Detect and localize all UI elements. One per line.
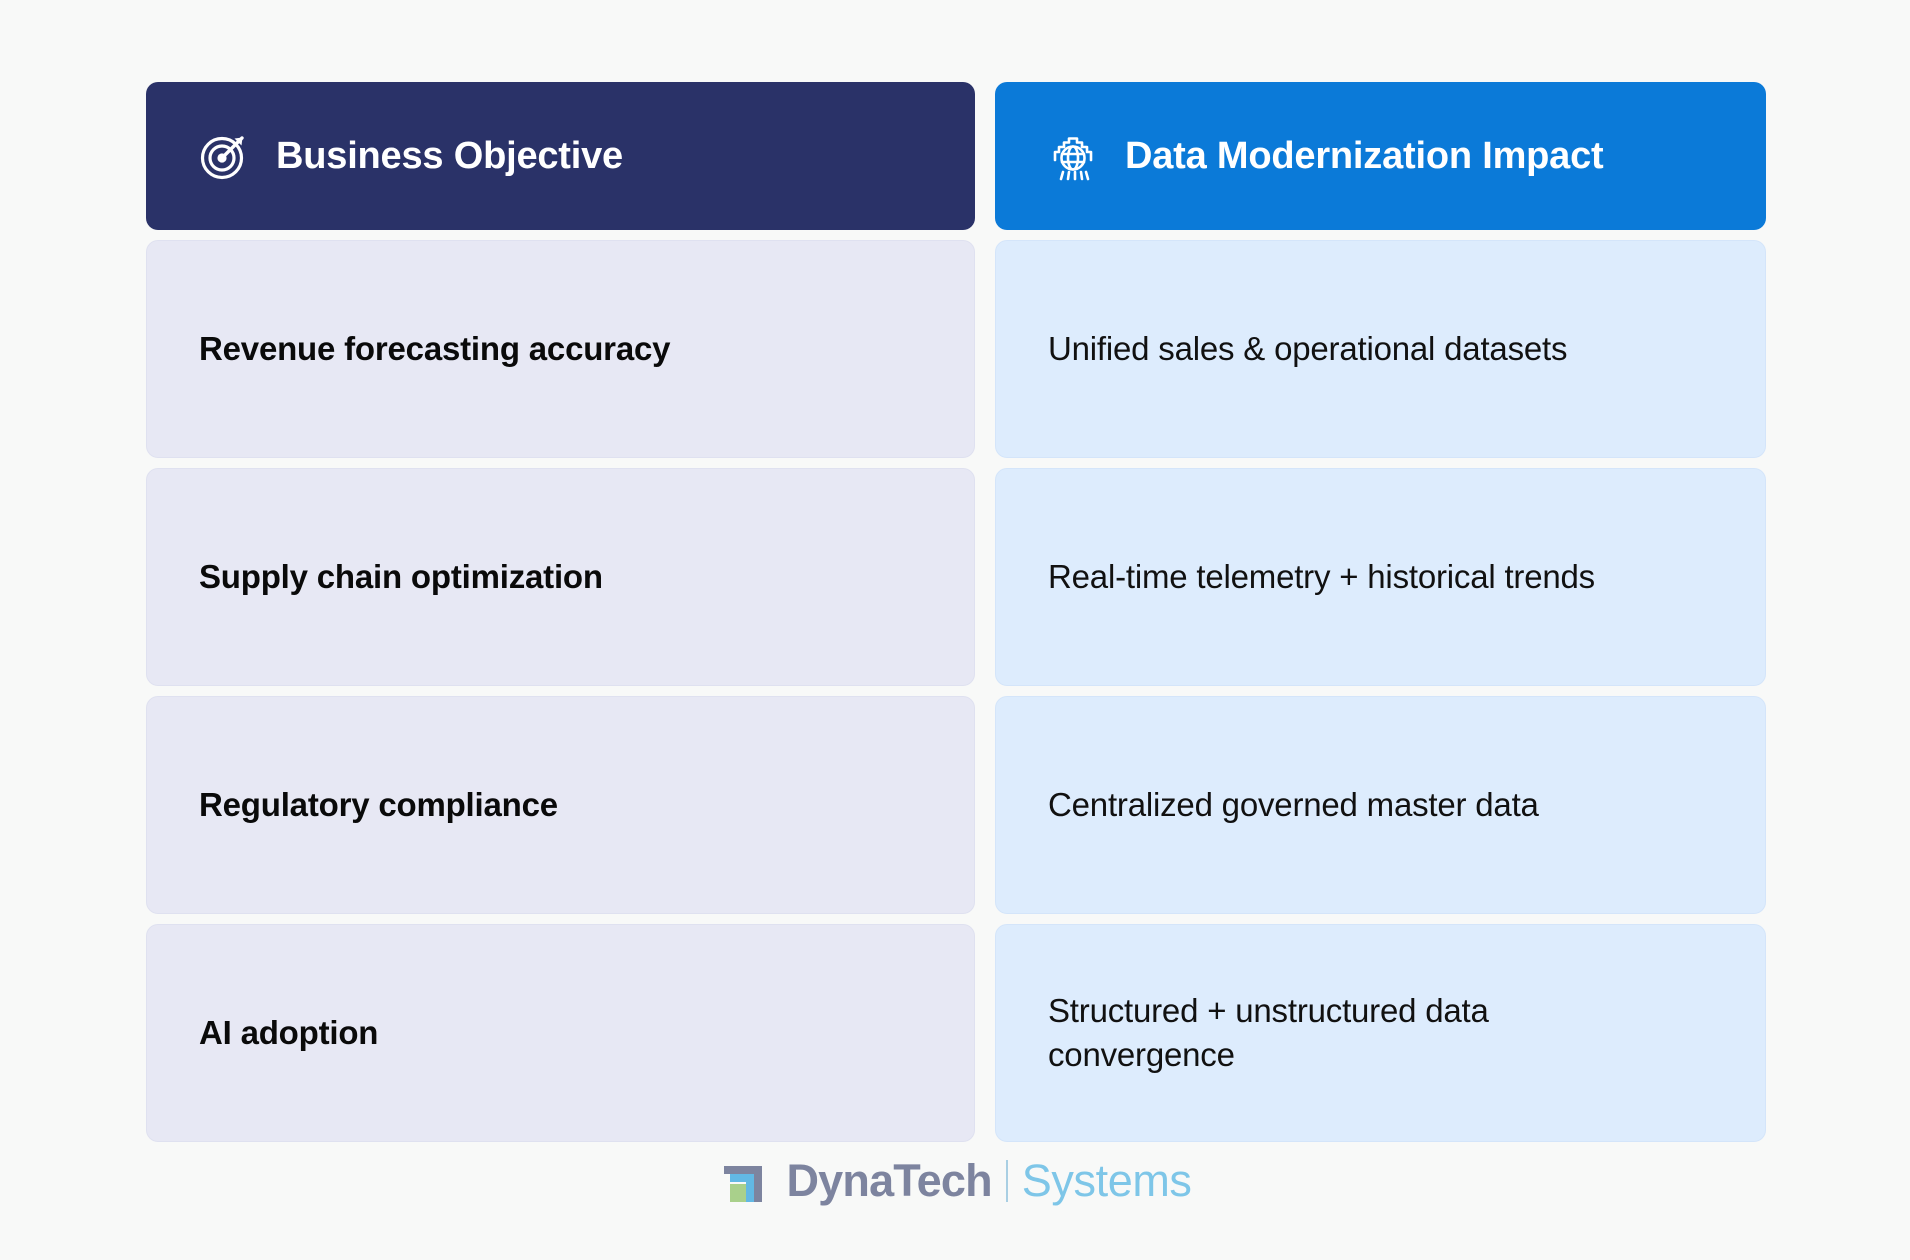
brand-wordmark: DynaTech Systems [786, 1155, 1191, 1207]
table-row: Supply chain optimization [146, 468, 975, 686]
impact-text: Structured + unstructured data convergen… [1048, 989, 1648, 1077]
table-header-label: Business Objective [276, 135, 623, 178]
brand-divider [1006, 1160, 1008, 1202]
table-row: Centralized governed master data [995, 696, 1766, 914]
brand-secondary-text: Systems [1022, 1155, 1192, 1207]
target-arrow-icon [198, 130, 250, 182]
table-row: Revenue forecasting accuracy [146, 240, 975, 458]
impact-text: Real-time telemetry + historical trends [1048, 555, 1595, 599]
table-row: Unified sales & operational datasets [995, 240, 1766, 458]
impact-text: Unified sales & operational datasets [1048, 327, 1567, 371]
table-row: Real-time telemetry + historical trends [995, 468, 1766, 686]
table-header-business-objective: Business Objective [146, 82, 975, 230]
table-header-label: Data Modernization Impact [1125, 135, 1604, 178]
comparison-table: Business Objective [146, 82, 1766, 1142]
globe-gear-data-icon [1047, 130, 1099, 182]
table-header-data-modernization-impact: Data Modernization Impact [995, 82, 1766, 230]
objective-text: AI adoption [199, 1011, 378, 1055]
table-row: AI adoption [146, 924, 975, 1142]
dynatech-logo-mark-icon [718, 1156, 768, 1206]
table-row: Structured + unstructured data convergen… [995, 924, 1766, 1142]
comparison-table-page: Business Objective [0, 0, 1910, 1260]
impact-text: Centralized governed master data [1048, 783, 1539, 827]
table-row: Regulatory compliance [146, 696, 975, 914]
brand-primary-text: DynaTech [786, 1155, 991, 1207]
objective-text: Supply chain optimization [199, 555, 603, 599]
objective-text: Revenue forecasting accuracy [199, 327, 670, 371]
objective-text: Regulatory compliance [199, 783, 558, 827]
footer-logo: DynaTech Systems [0, 1155, 1910, 1207]
